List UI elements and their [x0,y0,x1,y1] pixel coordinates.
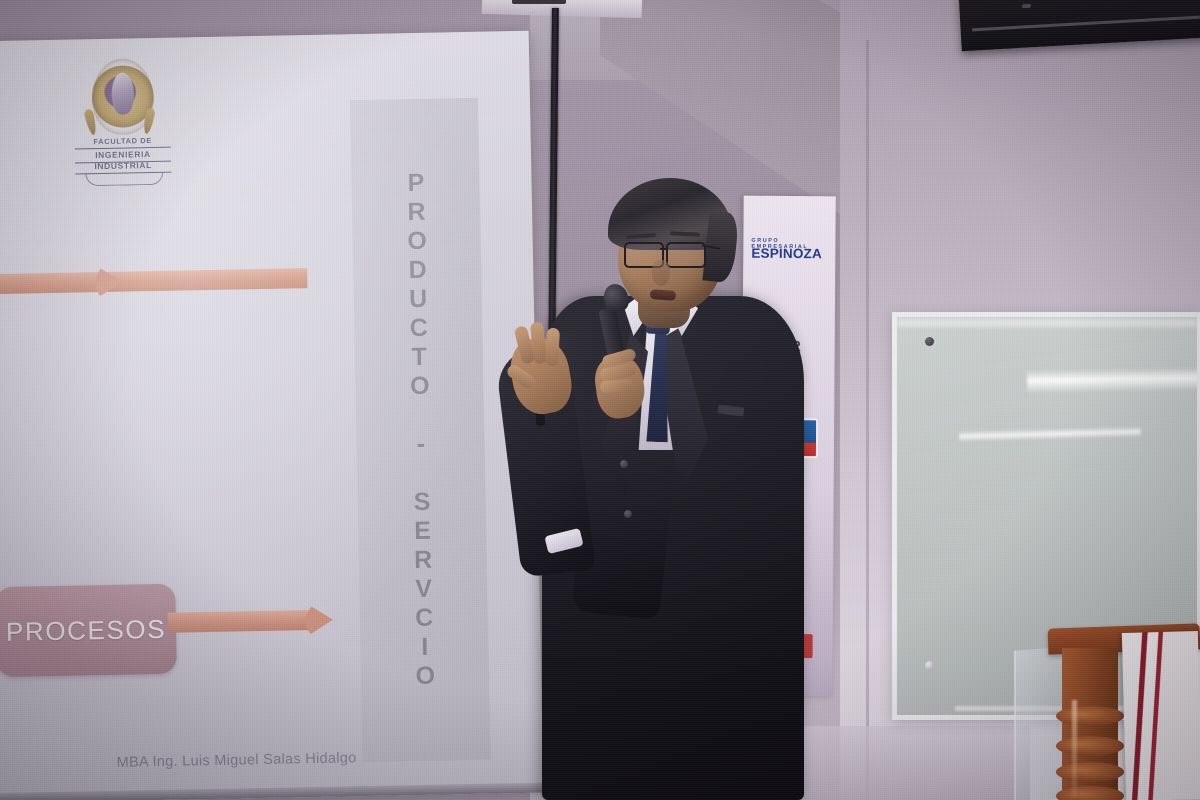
faculty-logo: FACULTAD DE INGENIERIA INDUSTRIAL [73,58,171,182]
arrow-head [306,603,334,638]
output-column-label: PRODUCTO - SERVCIO [396,169,445,692]
striped-table-cloth [1122,631,1200,800]
wood-highlight [1072,700,1077,798]
eyeglasses-bridge-icon [660,248,668,250]
slide-credit: MBA Ing. Luis Miguel Salas Hidalgo [0,748,483,773]
speaker [480,180,820,800]
procesos-label: PROCESOS [6,613,167,647]
faculty-logo-line-1: FACULTAD DE [75,136,171,147]
presentation-photo-scene: FACULTAD DE INGENIERIA INDUSTRIAL PROCES… [0,0,1200,800]
input-arrow-top-icon [0,261,334,302]
table-leg-turning [1056,786,1124,800]
table-leg-turning [1056,762,1124,782]
projection-screen: FACULTAD DE INGENIERIA INDUSTRIAL PROCES… [0,31,543,800]
finger [600,379,635,393]
finger [545,328,560,367]
arrow-shaft [0,268,308,295]
wall-seam [866,40,869,800]
whiteboard-mount-bolt-icon [925,337,934,346]
screen-bottom-edge [0,783,543,800]
whiteboard-reflection [959,427,1141,442]
arrow-shaft [168,610,314,633]
suit-button-lower-icon [624,510,632,518]
table-leg-turning [1056,736,1124,756]
mouth [650,289,677,301]
whiteboard-reflection [1027,367,1200,393]
whiteboard-mount-bolt-icon [925,661,934,670]
output-column: PRODUCTO - SERVCIO [350,98,491,762]
arrow-head [95,265,123,300]
procesos-box: PROCESOS [0,584,177,677]
nose [652,260,670,286]
television-indicator-icon [1022,4,1031,8]
suit-button-upper-icon [620,460,628,468]
whiteboard-reflection [897,319,1197,327]
crest-scroll-icon [85,172,163,186]
table-leg-turning [1056,706,1124,726]
procesos-to-output-arrow-icon [168,603,341,640]
eyeglasses-lens-right-icon [666,242,706,268]
projector-mount-bracket [512,0,566,4]
